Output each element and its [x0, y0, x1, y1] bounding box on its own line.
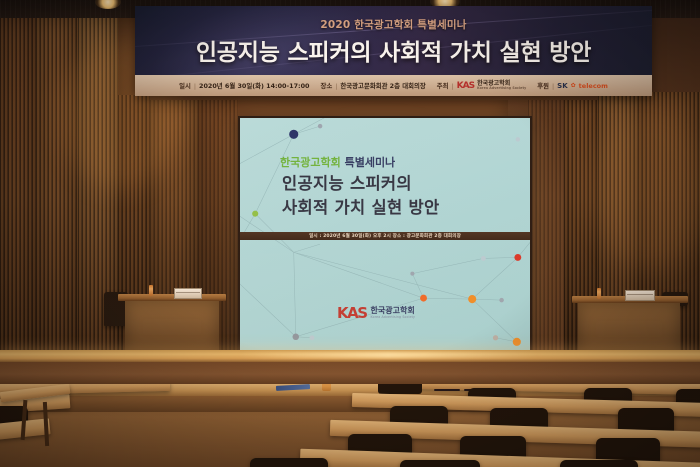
wall-slats-left-1	[0, 18, 36, 358]
desk-microphone	[434, 389, 460, 391]
presentation-slide: 한국광고학회 특별세미나 인공지능 스피커의 사회적 가치 실현 방안 일시 :…	[240, 118, 530, 350]
slide-kas-logo-mark: KAS	[337, 304, 367, 322]
audience-seating	[0, 384, 700, 467]
slide-kas-logo-en: Korea Advertising Society	[371, 316, 416, 319]
stage-edge-highlight	[238, 352, 538, 358]
kas-logo-en: Korea Advertising Society	[477, 87, 526, 90]
slide-title-line-2: 사회적 가치 실현 방안	[282, 194, 439, 218]
slide-divider: 일시 : 2020년 6월 30일(화) 오후 2시 장소 : 광고문화회관 2…	[240, 232, 530, 240]
table-skirt	[578, 303, 680, 355]
head-table-right	[572, 296, 688, 356]
slide-kas-logo: KAS 한국광고학회 Korea Advertising Society	[337, 304, 415, 322]
water-bottle-right	[597, 288, 601, 299]
water-bottle-left	[149, 285, 153, 296]
banner-info-place-value: 한국광고문화회관 2층 대회의장	[340, 81, 425, 90]
table-top	[118, 294, 226, 301]
banner-title: 인공지능 스피커의 사회적 가치 실현 방안	[135, 33, 652, 67]
sk-butterfly-icon: ✿	[571, 82, 576, 89]
placard-line	[627, 294, 653, 295]
projection-screen: 한국광고학회 특별세미나 인공지능 스피커의 사회적 가치 실현 방안 일시 :…	[238, 116, 532, 352]
event-banner: 2020 한국광고학회 특별세미나 인공지능 스피커의 사회적 가치 실현 방안…	[135, 6, 652, 96]
name-placard-left	[174, 288, 202, 299]
banner-info-host-sep: |	[452, 82, 454, 90]
slide-kicker: 한국광고학회 특별세미나	[280, 154, 395, 170]
banner-info-host-key: 주최	[437, 81, 449, 90]
kas-logo-mark: KAS	[457, 81, 474, 91]
banner-info-date: 일시 | 2020년 6월 30일(화) 14:00-17:00	[179, 81, 309, 90]
laptop-bag	[378, 384, 422, 394]
banner-info-date-value: 2020년 6월 30일(화) 14:00-17:00	[199, 81, 310, 90]
banner-subtitle: 2020 한국광고학회 특별세미나	[135, 17, 652, 32]
sk-logo-mark: SK	[557, 82, 567, 90]
placard-line	[176, 292, 200, 293]
table-skirt	[125, 301, 219, 353]
banner-info-place-sep: |	[335, 82, 337, 90]
slide-kas-logo-text: 한국광고학회 Korea Advertising Society	[371, 307, 416, 319]
slide-meta-text: 일시 : 2020년 6월 30일(화) 오후 2시 장소 : 광고문화회관 2…	[309, 233, 461, 239]
banner-info-sponsor-sep: |	[552, 82, 554, 90]
stage-front-floor	[0, 362, 700, 384]
banner-info-host: 주최 | KAS 한국광고학회 Korea Advertising Societ…	[437, 81, 527, 91]
banner-info-sponsor: 후원 | SK ✿ telecom	[537, 81, 608, 90]
coffee-cup	[322, 384, 331, 391]
banner-info-sponsor-key: 후원	[537, 81, 549, 90]
wall-slats-center-right	[528, 100, 564, 358]
seat-row-4	[560, 460, 638, 467]
banner-info-place: 장소 | 한국광고문화회관 2층 대회의장	[321, 81, 426, 90]
banner-info-place-key: 장소	[321, 81, 333, 90]
wall-slats-left-2	[36, 18, 78, 358]
slide-kicker-type: 특별세미나	[345, 156, 396, 169]
slide-title-line-1: 인공지능 스피커의	[282, 170, 412, 194]
sk-logo-name: telecom	[579, 82, 608, 90]
banner-info-date-key: 일시	[179, 81, 191, 90]
slide-kicker-org: 한국광고학회	[280, 156, 341, 169]
banner-info-date-sep: |	[194, 82, 196, 90]
seat-row-4	[400, 460, 480, 467]
head-table-left	[118, 294, 226, 356]
conference-hall-photo: 2020 한국광고학회 특별세미나 인공지능 스피커의 사회적 가치 실현 방안…	[0, 0, 700, 467]
name-placard-right	[625, 290, 655, 301]
kas-logo-text: 한국광고학회 Korea Advertising Society	[477, 81, 526, 90]
banner-info-bar: 일시 | 2020년 6월 30일(화) 14:00-17:00 장소 | 한국…	[135, 75, 652, 96]
seat-row-4	[250, 458, 328, 467]
